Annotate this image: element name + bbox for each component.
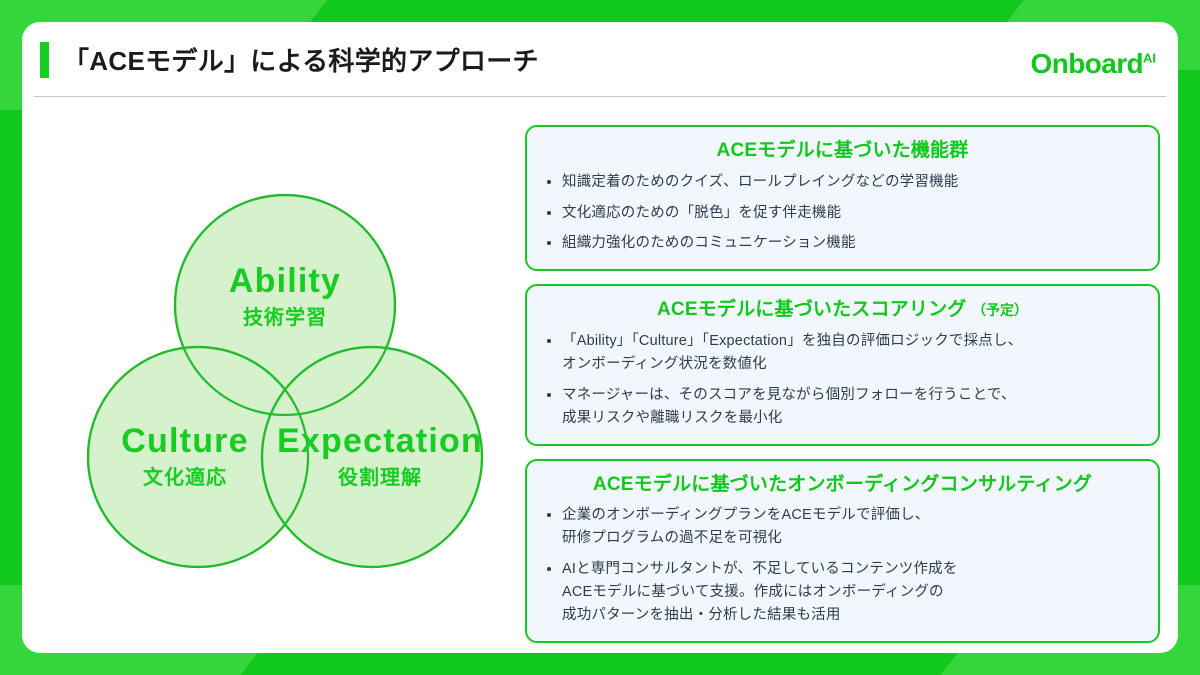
card-title: ACEモデルに基づいた機能群 xyxy=(543,138,1142,164)
list-item: 「Ability」「Culture」「Expectation」を独自の評価ロジッ… xyxy=(543,330,1142,376)
header-divider xyxy=(34,96,1166,97)
venn-label-expectation-jp: 役割理解 xyxy=(338,465,422,489)
bullet-line: マネージャーは、そのスコアを見ながら個別フォローを行うことで、 xyxy=(562,384,1142,407)
venn-label-expectation-en: Expectation xyxy=(277,422,483,460)
list-item: AIと専門コンサルタントが、不足しているコンテンツ作成を ACEモデルに基づいて… xyxy=(543,558,1142,627)
title-accent-bar xyxy=(40,42,49,78)
venn-label-culture-en: Culture xyxy=(121,422,248,460)
list-item: 組織力強化のためのコミュニケーション機能 xyxy=(543,232,1142,255)
venn-label-ability-jp: 技術学習 xyxy=(243,305,327,329)
card-bullet-list: 知識定着のためのクイズ、ロールプレイングなどの学習機能 文化適応のための「脱色」… xyxy=(543,171,1142,256)
bullet-line: 研修プログラムの過不足を可視化 xyxy=(562,527,1142,550)
card-title-text: ACEモデルに基づいたスコアリング xyxy=(657,299,967,320)
brand-logo-name: Onboard xyxy=(1031,48,1143,79)
bullet-line: 成果リスクや離職リスクを最小化 xyxy=(562,407,1142,430)
card-bullet-list: 「Ability」「Culture」「Expectation」を独自の評価ロジッ… xyxy=(543,330,1142,430)
bullet-line: オンボーディング状況を数値化 xyxy=(562,353,1142,376)
feature-card-list: ACEモデルに基づいた機能群 知識定着のためのクイズ、ロールプレイングなどの学習… xyxy=(525,125,1160,656)
bullet-line: 知識定着のためのクイズ、ロールプレイングなどの学習機能 xyxy=(562,171,1142,194)
slide-root: 「ACEモデル」による科学的アプローチ OnboardAI Ability 技術… xyxy=(0,0,1200,675)
feature-card-scoring: ACEモデルに基づいたスコアリング （予定） 「Ability」「Culture… xyxy=(525,284,1160,445)
bullet-line: 企業のオンボーディングプランをACEモデルで評価し、 xyxy=(562,504,1142,527)
list-item: 企業のオンボーディングプランをACEモデルで評価し、 研修プログラムの過不足を可… xyxy=(543,504,1142,550)
bullet-line: ACEモデルに基づいて支援。作成にはオンボーディングの xyxy=(562,581,1142,604)
bullet-line: 文化適応のための「脱色」を促す伴走機能 xyxy=(562,202,1142,225)
list-item: マネージャーは、そのスコアを見ながら個別フォローを行うことで、 成果リスクや離職… xyxy=(543,384,1142,430)
card-title-text: ACEモデルに基づいたオンボーディングコンサルティング xyxy=(593,474,1092,495)
bullet-line: AIと専門コンサルタントが、不足しているコンテンツ作成を xyxy=(562,558,1142,581)
card-title: ACEモデルに基づいたオンボーディングコンサルティング xyxy=(543,472,1142,498)
feature-card-functions: ACEモデルに基づいた機能群 知識定着のためのクイズ、ロールプレイングなどの学習… xyxy=(525,125,1160,271)
card-title: ACEモデルに基づいたスコアリング （予定） xyxy=(543,297,1142,323)
brand-logo: OnboardAI xyxy=(1031,48,1156,80)
brand-logo-superscript: AI xyxy=(1143,51,1156,66)
page-title: 「ACEモデル」による科学的アプローチ xyxy=(63,41,539,78)
bullet-line: 成功パターンを抽出・分析した結果も活用 xyxy=(562,604,1142,627)
venn-label-ability-en: Ability xyxy=(229,262,341,300)
venn-diagram: Ability 技術学習 Culture 文化適応 Expectation 役割… xyxy=(50,132,520,632)
feature-card-consulting: ACEモデルに基づいたオンボーディングコンサルティング 企業のオンボーディングプ… xyxy=(525,459,1160,643)
list-item: 知識定着のためのクイズ、ロールプレイングなどの学習機能 xyxy=(543,171,1142,194)
slide-panel: 「ACEモデル」による科学的アプローチ OnboardAI Ability 技術… xyxy=(22,22,1178,653)
venn-diagram-svg: Ability 技術学習 Culture 文化適応 Expectation 役割… xyxy=(50,132,520,632)
bullet-line: 組織力強化のためのコミュニケーション機能 xyxy=(562,232,1142,255)
venn-label-culture-jp: 文化適応 xyxy=(143,465,227,489)
card-title-text: ACEモデルに基づいた機能群 xyxy=(717,140,969,161)
bullet-line: 「Ability」「Culture」「Expectation」を独自の評価ロジッ… xyxy=(562,330,1142,353)
list-item: 文化適応のための「脱色」を促す伴走機能 xyxy=(543,202,1142,225)
card-bullet-list: 企業のオンボーディングプランをACEモデルで評価し、 研修プログラムの過不足を可… xyxy=(543,504,1142,627)
slide-header: 「ACEモデル」による科学的アプローチ OnboardAI xyxy=(22,22,1178,97)
card-title-note: （予定） xyxy=(972,302,1028,318)
title-row: 「ACEモデル」による科学的アプローチ xyxy=(40,41,539,78)
